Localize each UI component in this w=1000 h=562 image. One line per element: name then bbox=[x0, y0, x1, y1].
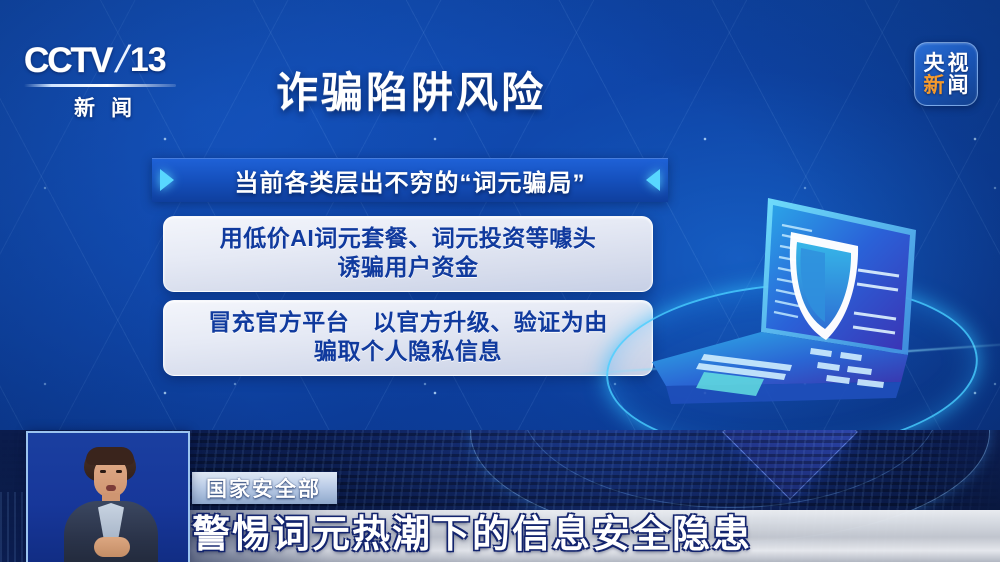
info-box-2-line-1: 冒充官方平台 以官方升级、验证为由 bbox=[208, 308, 608, 337]
badge-char-yang: 央 bbox=[924, 53, 945, 74]
anchor-hands bbox=[94, 537, 130, 557]
highlight-bar-text: 当前各类层出不穷的“词元骗局” bbox=[235, 163, 586, 198]
info-box-2-line-2: 骗取个人隐私信息 bbox=[314, 337, 502, 366]
badge-char-xin: 新 bbox=[924, 75, 945, 96]
cctv-logo-row: CCTV / 13 bbox=[24, 38, 184, 82]
agency-tag-label: 国家安全部 bbox=[206, 473, 321, 503]
anchor-mouth bbox=[106, 485, 116, 491]
info-box-2: 冒充官方平台 以官方升级、验证为由 骗取个人隐私信息 bbox=[163, 300, 653, 376]
anchor-eye-left bbox=[100, 470, 106, 473]
broadcast-screen: CCTV / 13 新闻 央 视 新 闻 诈骗陷阱风险 当前各类层出不穷的“词元… bbox=[0, 0, 1000, 562]
page-title: 诈骗陷阱风险 bbox=[276, 70, 546, 116]
cctv-news-badge: 央 视 新 闻 bbox=[914, 42, 978, 106]
anchor-fringe bbox=[86, 447, 134, 465]
laptop-svg bbox=[596, 172, 996, 472]
info-box-1-line-2: 诱骗用户资金 bbox=[338, 253, 479, 282]
news-anchor-window bbox=[26, 431, 190, 562]
info-box-1: 用低价AI词元套餐、词元投资等噱头 诱骗用户资金 bbox=[163, 216, 653, 292]
cctv13-channel-logo: CCTV / 13 新闻 bbox=[24, 38, 184, 120]
triangle-right-icon bbox=[160, 169, 174, 191]
badge-char-shi: 视 bbox=[948, 53, 969, 74]
cctv-channel-number: 13 bbox=[130, 43, 166, 77]
info-box-1-line-1: 用低价AI词元套餐、词元投资等噱头 bbox=[220, 224, 597, 253]
cctv-logo-subtitle: 新闻 bbox=[24, 92, 184, 122]
badge-top-line: 央 视 bbox=[924, 53, 969, 74]
badge-char-wen: 闻 bbox=[948, 75, 969, 96]
cctv-slash-divider: / bbox=[113, 41, 132, 79]
anchor-eye-right bbox=[116, 470, 122, 473]
agency-tag: 国家安全部 bbox=[192, 472, 337, 504]
laptop-illustration bbox=[596, 172, 996, 472]
highlight-bar: 当前各类层出不穷的“词元骗局” bbox=[152, 158, 668, 202]
badge-bottom-line: 新 闻 bbox=[924, 75, 969, 96]
cctv-logo-underline bbox=[24, 84, 176, 87]
headline-text: 警惕词元热潮下的信息安全隐患 bbox=[192, 515, 752, 556]
cctv-wordmark: CCTV bbox=[24, 43, 111, 78]
